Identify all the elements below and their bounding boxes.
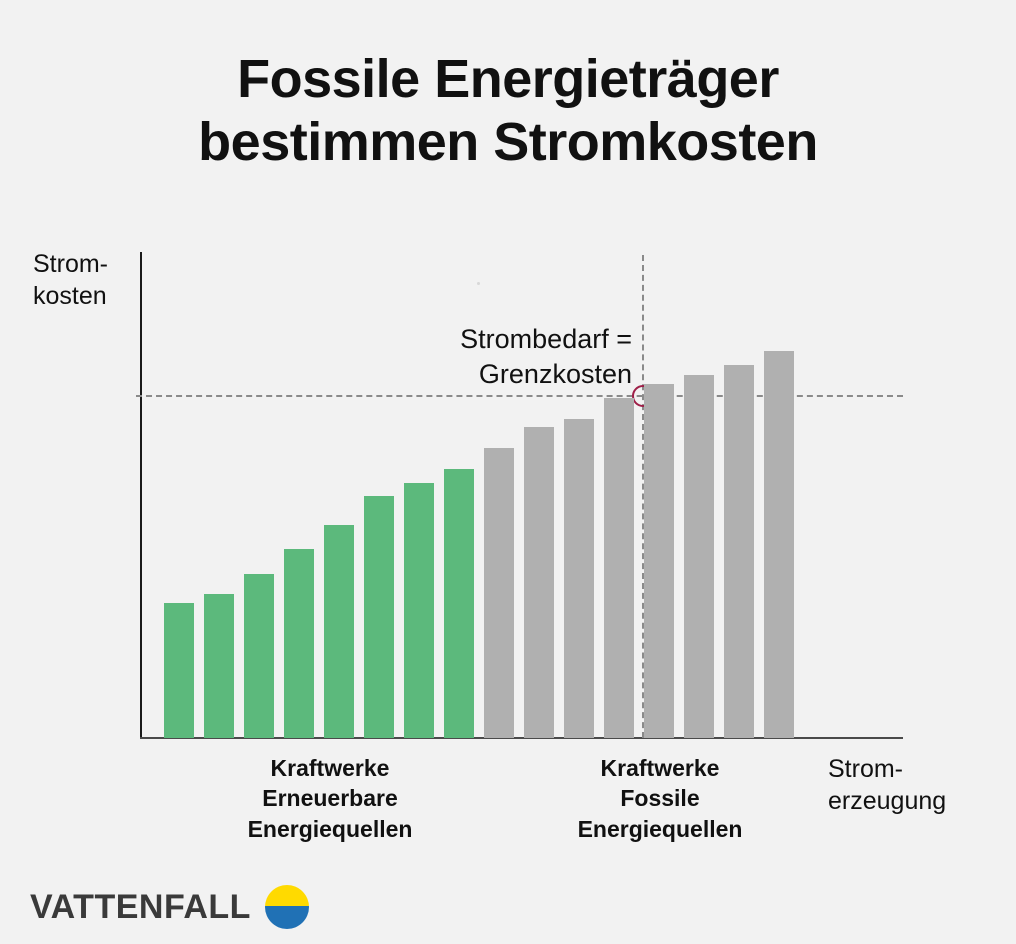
- bar-11: [564, 419, 594, 738]
- bar-12: [604, 398, 634, 738]
- infographic-canvas: Fossile Energieträger bestimmen Stromkos…: [0, 0, 1016, 944]
- bar-5: [324, 525, 354, 738]
- bar-6: [364, 496, 394, 738]
- bar-1: [164, 603, 194, 738]
- bar-16: [764, 351, 794, 738]
- vattenfall-mark-icon: [265, 885, 309, 929]
- bar-4: [284, 549, 314, 738]
- logo-mark-bottom-half: [265, 906, 309, 929]
- bar-15: [724, 365, 754, 738]
- vattenfall-logo: VATTENFALL: [30, 885, 309, 929]
- merit-order-chart: Strom- kosten Strombedarf = Grenzkosten …: [0, 0, 1016, 944]
- logo-wordmark: VATTENFALL: [30, 888, 251, 927]
- bar-10: [524, 427, 554, 738]
- category-label-fossils: Kraftwerke Fossile Energiequellen: [535, 753, 785, 844]
- bar-3: [244, 574, 274, 738]
- bar-13: [644, 384, 674, 738]
- logo-mark-top-half: [265, 885, 309, 906]
- x-axis-label: Strom- erzeugung: [828, 753, 998, 817]
- bar-14: [684, 375, 714, 738]
- bar-9: [484, 448, 514, 738]
- bar-8: [444, 469, 474, 738]
- bar-2: [204, 594, 234, 738]
- category-label-renewables: Kraftwerke Erneuerbare Energiequellen: [205, 753, 455, 844]
- bar-7: [404, 483, 434, 738]
